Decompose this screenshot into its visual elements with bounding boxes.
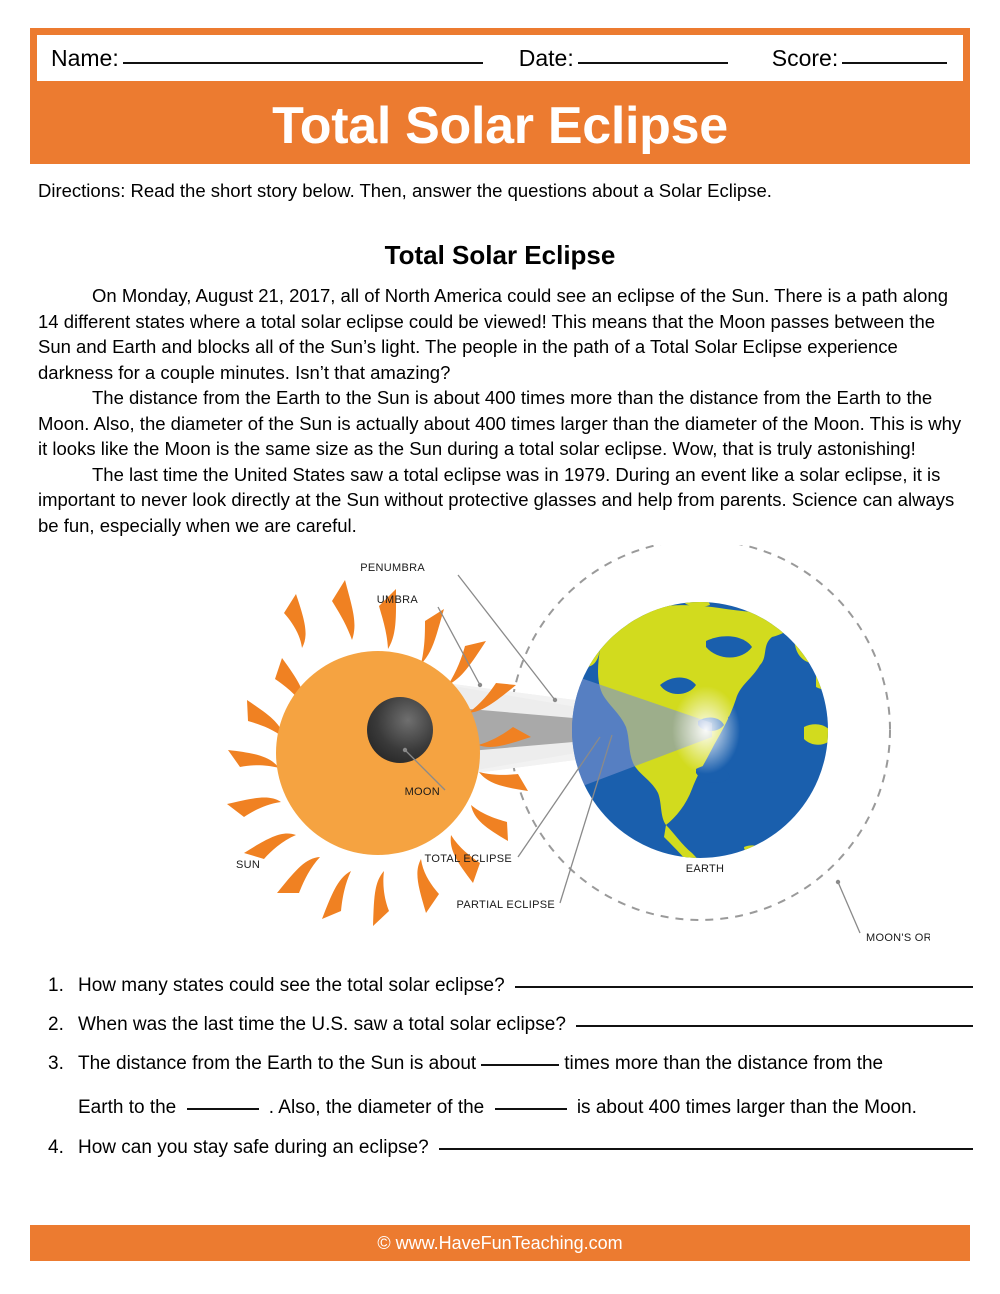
question-3-number: 3. <box>48 1053 78 1075</box>
question-2-text: When was the last time the U.S. saw a to… <box>78 1014 566 1036</box>
question-3: 3. The distance from the Earth to the Su… <box>48 1053 973 1075</box>
moon-sphere <box>367 697 433 763</box>
worksheet-title-banner: Total Solar Eclipse <box>30 88 970 164</box>
question-3-line-2: Earth to the . Also, the diameter of the… <box>48 1097 973 1119</box>
question-3-text-part-e: is about 400 times larger than the Moon. <box>577 1097 917 1118</box>
label-umbra: UMBRA <box>377 594 419 606</box>
question-3-text-part-a: The distance from the Earth to the Sun i… <box>78 1053 476 1075</box>
question-1-answer-line[interactable] <box>515 986 973 988</box>
page-title: Total Solar Eclipse <box>272 100 728 152</box>
question-1-text: How many states could see the total sola… <box>78 975 505 997</box>
date-field[interactable]: Date: <box>519 45 728 72</box>
label-moon: MOON <box>405 786 440 798</box>
story-paragraph-1: On Monday, August 21, 2017, all of North… <box>38 283 970 385</box>
question-2-number: 2. <box>48 1014 78 1036</box>
name-field[interactable]: Name: <box>51 45 483 72</box>
earth-total-eclipse-spot <box>672 686 740 774</box>
name-write-line[interactable] <box>123 62 483 64</box>
label-sun: SUN <box>236 859 260 871</box>
label-moons-orbit: MOON'S ORBIT <box>866 932 930 944</box>
question-4: 4. How can you stay safe during an eclip… <box>48 1137 973 1159</box>
leader-moons-orbit <box>838 882 860 933</box>
date-write-line[interactable] <box>578 62 728 64</box>
score-write-line[interactable] <box>842 62 947 64</box>
story-body: On Monday, August 21, 2017, all of North… <box>38 283 970 538</box>
date-label: Date: <box>519 45 574 72</box>
question-3-blank-3[interactable] <box>495 1108 567 1110</box>
label-penumbra: PENUMBRA <box>360 562 425 574</box>
solar-eclipse-diagram: PENUMBRA UMBRA MOON TOTAL ECLIPSE PARTIA… <box>100 545 930 955</box>
question-4-number: 4. <box>48 1137 78 1159</box>
question-3-text-part-d: . Also, the diameter of the <box>269 1097 484 1118</box>
leader-penumbra <box>458 575 555 700</box>
story-paragraph-3: The last time the United States saw a to… <box>38 462 970 539</box>
student-info-bar: Name: Date: Score: <box>30 28 970 88</box>
directions-text: Directions: Read the short story below. … <box>38 180 968 202</box>
question-4-answer-line[interactable] <box>439 1148 973 1150</box>
question-4-text: How can you stay safe during an eclipse? <box>78 1137 429 1159</box>
name-label: Name: <box>51 45 119 72</box>
question-2-answer-line[interactable] <box>576 1025 973 1027</box>
student-info-fields: Name: Date: Score: <box>37 35 963 81</box>
question-3-blank-1[interactable] <box>481 1064 559 1066</box>
story-paragraph-2: The distance from the Earth to the Sun i… <box>38 385 970 462</box>
questions-list: 1. How many states could see the total s… <box>48 975 973 1176</box>
footer-credit-link[interactable]: © www.HaveFunTeaching.com <box>377 1233 622 1254</box>
question-3-text-part-b: times more than the distance from the <box>564 1053 883 1075</box>
question-3-blank-2[interactable] <box>187 1108 259 1110</box>
earth-illustration <box>569 595 846 955</box>
label-earth: EARTH <box>686 863 725 875</box>
question-2: 2. When was the last time the U.S. saw a… <box>48 1014 973 1036</box>
label-total-eclipse: TOTAL ECLIPSE <box>425 853 512 865</box>
score-label: Score: <box>772 45 838 72</box>
footer-bar: © www.HaveFunTeaching.com <box>30 1225 970 1261</box>
question-3-text-part-c: Earth to the <box>78 1097 176 1118</box>
story-heading: Total Solar Eclipse <box>0 240 1000 271</box>
label-partial-eclipse: PARTIAL ECLIPSE <box>457 899 555 911</box>
question-1: 1. How many states could see the total s… <box>48 975 973 997</box>
question-1-number: 1. <box>48 975 78 997</box>
score-field[interactable]: Score: <box>772 45 947 72</box>
